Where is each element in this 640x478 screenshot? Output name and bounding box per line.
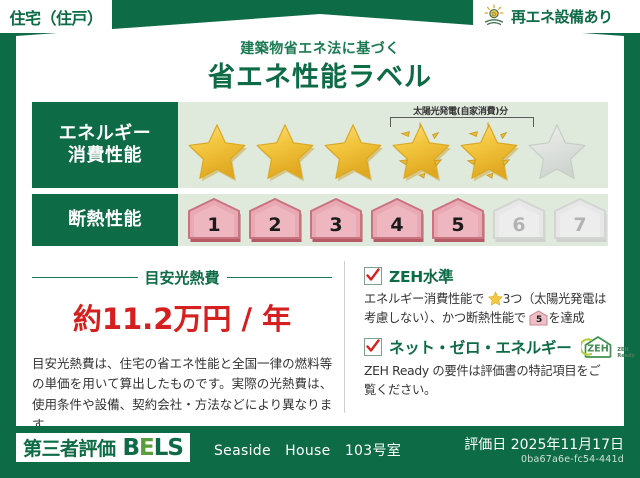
energy-cost-amount: 約11.2万円 / 年	[32, 296, 332, 338]
bels-logo-b: B	[123, 435, 140, 461]
star-filled-icon	[254, 122, 316, 182]
third-party-eval-label: 第三者評価	[23, 434, 116, 461]
solar-annotation-label: 太陽光発電(自家消費)分	[383, 104, 538, 117]
insulation-level-filled: 1	[186, 197, 242, 242]
insulation-level-number: 7	[552, 214, 608, 236]
insulation-performance-label: 断熱性能	[32, 194, 178, 246]
energy-cost-heading-text: 目安光熱費	[145, 267, 220, 288]
zeh-logo-subtext-line2: Ready	[617, 354, 634, 359]
insulation-level-number: 5	[430, 214, 486, 236]
energy-performance-label-line2: 消費性能	[68, 145, 142, 168]
bels-logo: BELS	[123, 435, 183, 461]
label-footer: 第三者評価 BELS Seaside House 103号室 評価日 2025年…	[0, 426, 640, 478]
svg-text:D: D	[492, 12, 496, 18]
heading-rule-left	[32, 277, 138, 279]
insulation-level-empty: 6	[491, 197, 547, 242]
renewable-energy-badge-label: 再エネ設備あり	[511, 6, 613, 27]
zeh-house-logo: ZEH ZEH Ready	[581, 335, 634, 359]
svg-text:ZEH: ZEH	[588, 343, 610, 354]
zeh-standard-body: エネルギー消費性能で 3つ（太陽光発電は考慮しない）、かつ断熱性能で 5 を達成	[364, 290, 608, 329]
insulation-performance-value: 1234567	[178, 194, 608, 246]
zeh-netzero-heading: ネット・ゼロ・エネルギー ZEH ZEH Ready	[364, 335, 608, 359]
insulation-level-filled: 2	[247, 197, 303, 242]
bels-badge: 第三者評価 BELS	[16, 433, 190, 462]
energy-performance-label-line1: エネルギー	[59, 123, 152, 146]
evaluation-id: 0ba67a6e-fc54-441d	[521, 454, 624, 465]
check-icon	[366, 339, 380, 354]
star-filled-icon	[458, 122, 520, 182]
star-filled-icon	[322, 122, 384, 182]
energy-performance-label: エネルギー 消費性能	[32, 102, 178, 188]
column-divider	[344, 261, 345, 413]
zeh-netzero-body: ZEH Ready の要件は評価書の特記項目をご覧ください。	[364, 362, 608, 401]
star-icon	[488, 291, 503, 306]
insulation-level-number: 2	[247, 214, 303, 236]
building-name: Seaside House 103号室	[214, 440, 401, 460]
evaluation-date: 評価日 2025年11月17日	[464, 434, 624, 454]
insulation-level-filled: 3	[308, 197, 364, 242]
performance-block: エネルギー 消費性能 太陽光発電(自家消費)分 断熱性能 1234567	[32, 102, 608, 257]
insulation-level-number: 4	[369, 214, 425, 236]
bels-logo-ls: LS	[154, 435, 183, 461]
insulation-performance-row: 断熱性能 1234567	[32, 194, 608, 246]
energy-performance-row: エネルギー 消費性能 太陽光発電(自家消費)分	[32, 102, 608, 188]
zeh-item-standard: ZEH水準 エネルギー消費性能で 3つ（太陽光発電は考慮しない）、かつ断熱性能で…	[364, 265, 608, 329]
insulation-badge-inline: 5	[529, 310, 548, 326]
check-icon	[366, 268, 380, 283]
energy-cost-section: 目安光熱費 約11.2万円 / 年 目安光熱費は、住宅の省エネ性能と全国一律の燃…	[32, 265, 332, 435]
insulation-level-empty: 7	[552, 197, 608, 242]
insulation-level-scale: 1234567	[186, 197, 608, 242]
building-type-badge-label: 住宅（住戸）	[9, 5, 102, 29]
zeh-item-netzero: ネット・ゼロ・エネルギー ZEH ZEH Ready	[364, 335, 608, 401]
heading-rule-right	[227, 277, 333, 279]
insulation-level-number: 1	[186, 214, 242, 236]
zeh-standard-body-part1: エネルギー消費性能で	[364, 292, 484, 306]
insulation-level-number: 6	[491, 214, 547, 236]
star-rating	[186, 122, 588, 182]
energy-performance-label: 住宅（住戸） D 再エネ設備あり 建築物省エネ法に基づく 省エネ性能ラベル	[0, 0, 640, 478]
star-filled-icon	[390, 122, 452, 182]
bels-logo-e: E	[139, 435, 154, 461]
building-type-badge: 住宅（住戸）	[0, 0, 112, 33]
lower-columns: 目安光熱費 約11.2万円 / 年 目安光熱費は、住宅の省エネ性能と全国一律の燃…	[32, 265, 608, 415]
label-title: 省エネ性能ラベル	[0, 55, 640, 94]
energy-cost-heading: 目安光熱費	[32, 267, 332, 288]
zeh-logo-subtext: ZEH Ready	[617, 348, 634, 359]
insulation-level-filled: 5	[430, 197, 486, 242]
zeh-standard-heading: ZEH水準	[364, 265, 608, 287]
zeh-section: ZEH水準 エネルギー消費性能で 3つ（太陽光発電は考慮しない）、かつ断熱性能で…	[364, 265, 608, 407]
insulation-performance-label-text: 断熱性能	[68, 209, 142, 232]
energy-performance-value: 太陽光発電(自家消費)分	[178, 102, 608, 188]
energy-cost-description: 目安光熱費は、住宅の省エネ性能と全国一律の燃料等の単価を用いて算出したものです。…	[32, 354, 332, 435]
star-filled-icon	[186, 122, 248, 182]
zeh-standard-title: ZEH水準	[389, 265, 453, 287]
zeh-standard-body-part3: を達成	[548, 311, 584, 325]
star-empty-icon	[526, 122, 588, 182]
zeh-netzero-title: ネット・ゼロ・エネルギー	[389, 336, 571, 358]
insulation-level-filled: 4	[369, 197, 425, 242]
zeh-standard-checkbox[interactable]	[364, 267, 382, 285]
insulation-level-number: 3	[308, 214, 364, 236]
zeh-netzero-checkbox[interactable]	[364, 338, 382, 356]
insulation-badge-inline-number: 5	[529, 313, 548, 327]
solar-sun-icon: D	[483, 4, 505, 30]
